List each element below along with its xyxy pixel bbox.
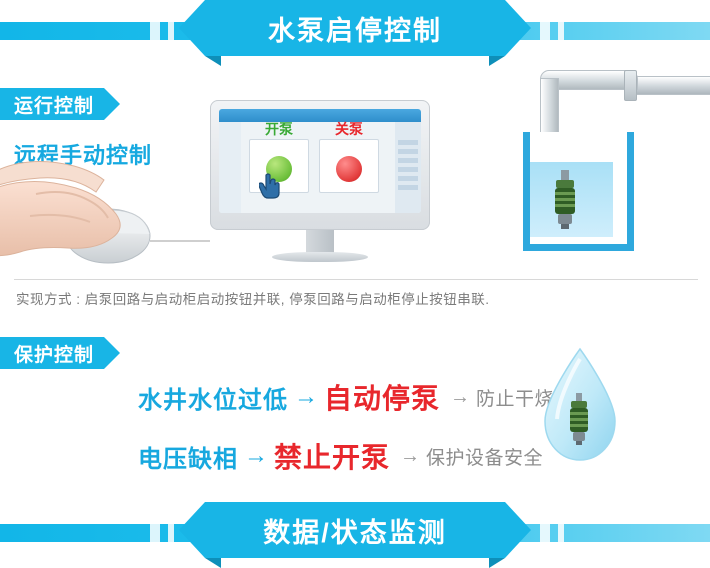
protection-row: 水井水位过低 → 自动停泵 → 防止干烧 <box>138 377 554 417</box>
protection-result: 保护设备安全 <box>426 443 543 470</box>
pipe-horizontal <box>630 76 710 95</box>
screen-right-panel <box>395 122 421 213</box>
ribbon-notch-left <box>205 56 221 66</box>
protection-condition: 水井水位过低 <box>138 380 288 415</box>
monitor-illustration: 开泵 关泵 <box>210 100 430 265</box>
hand-cursor-icon <box>259 173 281 199</box>
band-stripe <box>540 524 550 542</box>
monitor-screen: 开泵 关泵 <box>219 109 421 213</box>
protection-action: 禁止开泵 <box>274 436 390 476</box>
bottom-banner-ribbon: 数据/状态监测 <box>205 502 505 558</box>
water-drop-pump-icon <box>537 345 623 465</box>
screen-sidebar <box>219 122 241 213</box>
arrow-right-small-icon: → <box>450 386 470 409</box>
pipe-vertical <box>540 78 559 140</box>
screen-row <box>398 158 418 163</box>
monitor-base <box>272 252 368 262</box>
top-banner: 水泵启停控制 <box>0 0 710 62</box>
band-stripe <box>540 22 550 40</box>
band-stripe <box>150 22 160 40</box>
protection-action: 自动停泵 <box>324 377 440 417</box>
bottom-banner: 数据/状态监测 <box>0 502 710 564</box>
screen-row <box>398 185 418 190</box>
band-stripe <box>558 524 564 542</box>
pump-stop-indicator-icon <box>336 156 362 182</box>
monitor-neck <box>306 230 334 254</box>
ribbon-notch-left <box>205 558 221 568</box>
protection-row: 电压缺相 → 禁止开泵 → 保护设备安全 <box>138 436 543 476</box>
screen-row <box>398 176 418 181</box>
ribbon-notch-right <box>489 558 505 568</box>
infographic-canvas: 水泵启停控制 运行控制 远程手动控制 <box>0 0 710 564</box>
pump-start-label: 开泵 <box>250 119 308 139</box>
screen-row <box>398 149 418 154</box>
ribbon-notch-right <box>489 56 505 66</box>
pump-stop-button[interactable]: 关泵 <box>319 139 379 193</box>
arrow-right-icon: → <box>294 383 318 411</box>
section-tag-protection-control-label: 保护控制 <box>14 340 94 367</box>
band-stripe <box>168 22 174 40</box>
protection-condition: 电压缺相 <box>138 439 238 474</box>
top-banner-ribbon: 水泵启停控制 <box>205 0 505 56</box>
pipe-flange <box>624 70 637 101</box>
submersible-pump-icon <box>553 170 577 230</box>
section-tag-run-control-label: 运行控制 <box>14 91 94 118</box>
screen-row <box>398 167 418 172</box>
section-tag-protection-control: 保护控制 <box>0 337 104 369</box>
section-tag-run-control: 运行控制 <box>0 88 104 120</box>
arrow-right-small-icon: → <box>400 445 420 468</box>
band-stripe <box>150 524 160 542</box>
note-divider <box>14 279 698 280</box>
pump-stop-label: 关泵 <box>320 119 378 139</box>
band-stripe <box>558 22 564 40</box>
mouse-cord <box>150 240 210 242</box>
screen-rows <box>398 140 418 194</box>
bottom-banner-title: 数据/状态监测 <box>205 502 505 558</box>
screen-row <box>398 140 418 145</box>
top-banner-title: 水泵启停控制 <box>205 0 505 56</box>
band-stripe <box>168 524 174 542</box>
implementation-note: 实现方式 : 启泵回路与启动柜启动按钮并联, 停泵回路与启动柜停止按钮串联. <box>16 288 490 308</box>
hand-on-mouse-icon <box>0 150 210 275</box>
arrow-right-icon: → <box>244 442 268 470</box>
